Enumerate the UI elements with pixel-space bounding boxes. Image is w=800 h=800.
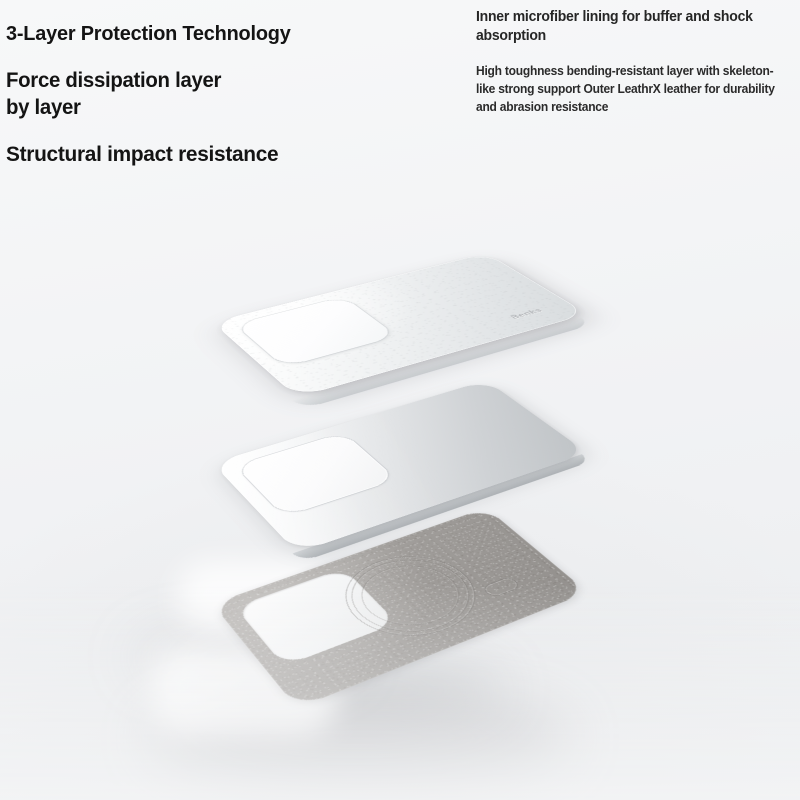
feature-heading-structural-impact: Structural impact resistance (6, 142, 433, 168)
feature-line-2: by layer (6, 96, 81, 119)
left-copy-block: 3-Layer Protection Technology Force diss… (6, 22, 446, 168)
microfiber-plate (212, 508, 587, 709)
layer-outer-leather-shell: Benks (212, 253, 587, 398)
page-title: 3-Layer Protection Technology (6, 22, 433, 46)
layer-middle-support-frame (212, 380, 587, 553)
right-copy-body: High toughness bending-resistant layer w… (476, 63, 780, 117)
right-copy-block: Inner microfiber lining for buffer and s… (476, 8, 794, 116)
feature-heading-force-dissipation: Force dissipation layerby layer (6, 68, 433, 122)
product-feature-graphic: Benks 3-Layer Protection Technology Forc… (0, 0, 800, 800)
layer-inner-microfiber-lining (212, 508, 587, 709)
feature-line-1: Force dissipation layer (6, 69, 221, 92)
right-copy-heading: Inner microfiber lining for buffer and s… (476, 8, 781, 47)
